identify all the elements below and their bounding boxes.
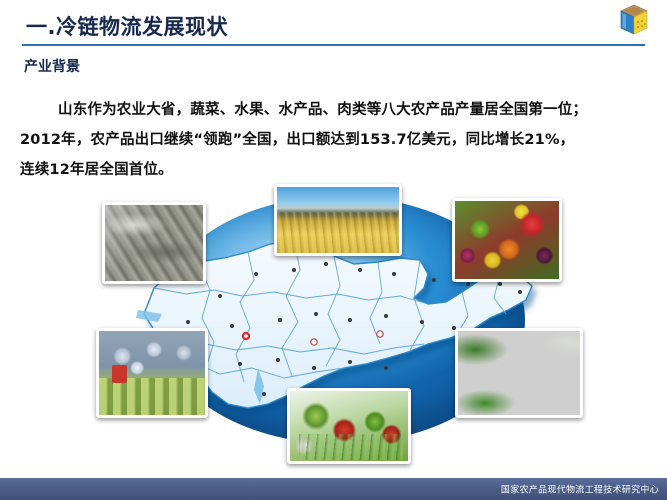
- title-divider: [22, 44, 645, 46]
- body-line: 山东作为农业大省，蔬菜、水果、水产品、肉类等八大农产品产量居全国第一位；: [20, 95, 660, 125]
- map-photo-collage: [0, 178, 667, 470]
- photo-fruit: [452, 198, 562, 282]
- footer-bar: 国家农产品现代物流工程技术研究中心: [0, 478, 667, 500]
- photo-vegetables: [287, 388, 411, 464]
- cube-logo-icon: [619, 4, 649, 36]
- body-line: 2012年，农产品出口继续“领跑”全国，出口额达到153.7亿美元，同比增长21…: [20, 125, 660, 155]
- photo-fish: [102, 202, 206, 284]
- page-title: 一.冷链物流发展现状: [26, 11, 228, 41]
- footer-organization-label: 国家农产品现代物流工程技术研究中心: [501, 483, 659, 496]
- presentation-slide: 一.冷链物流发展现状 产业背景 山东作为农业大省，蔬菜、水果、水产品、肉类等八大…: [0, 0, 667, 500]
- capital-marker: [242, 332, 250, 340]
- photo-factory: [96, 328, 208, 418]
- section-subheading: 产业背景: [24, 56, 80, 76]
- photo-wheat: [274, 184, 402, 256]
- body-paragraph: 山东作为农业大省，蔬菜、水果、水产品、肉类等八大农产品产量居全国第一位； 201…: [20, 95, 660, 185]
- photo-meat: [455, 328, 583, 418]
